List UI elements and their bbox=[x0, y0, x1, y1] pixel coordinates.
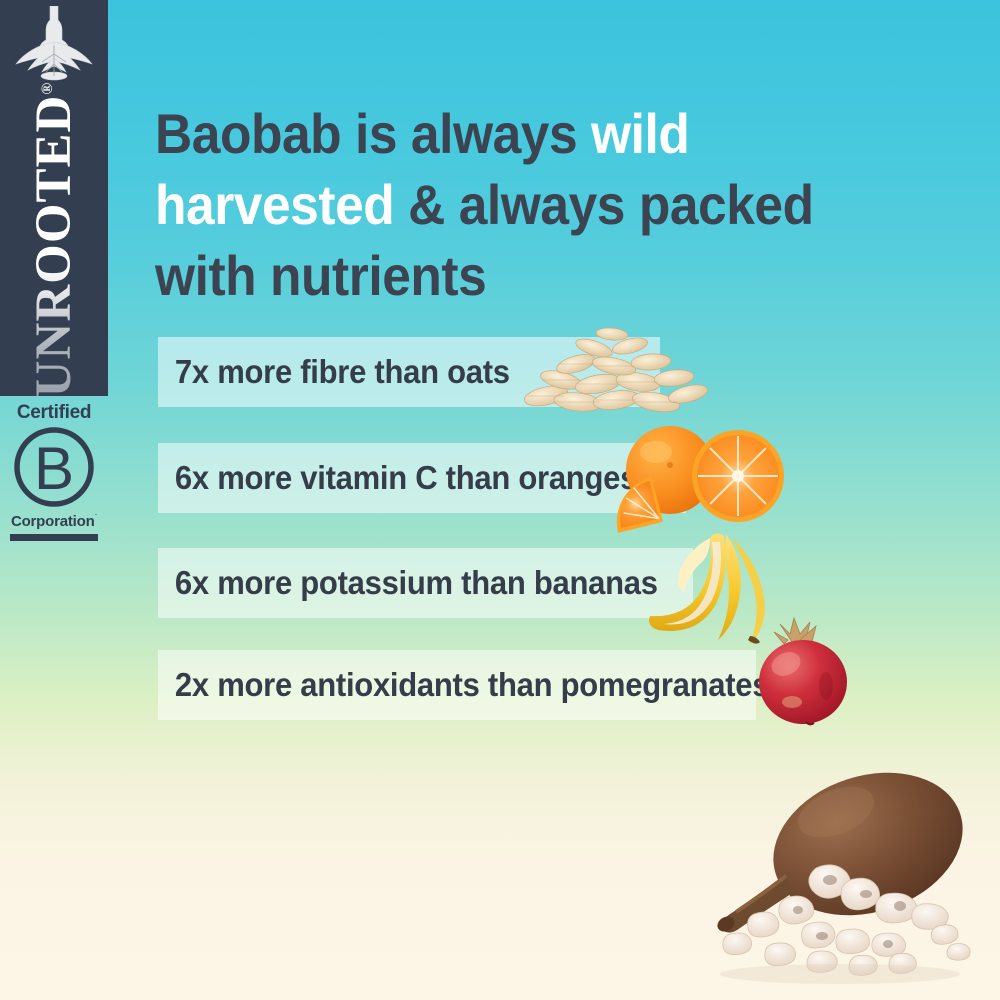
headline-line2-highlight: harvested bbox=[155, 173, 394, 236]
claim-text-fibre: 7x more fibre than oats bbox=[158, 353, 510, 391]
oats-image bbox=[506, 318, 716, 418]
svg-text:B: B bbox=[34, 435, 74, 502]
bcorp-underline-rule bbox=[10, 534, 98, 541]
bcorp-certified-label: Certified bbox=[0, 400, 108, 424]
claim-bar-antioxidants: 2x more antioxidants than pomegranates bbox=[158, 650, 756, 720]
page-title: Baobab is always wildharvested & always … bbox=[155, 98, 827, 311]
headline-line2-dark: & always packed bbox=[394, 173, 813, 236]
infographic-canvas: UNROOTED® Certified B Corporation˙ Baoba… bbox=[0, 0, 1000, 1000]
headline-line1-highlight: wild bbox=[591, 102, 689, 165]
claim-bar-potassium: 6x more potassium than bananas bbox=[158, 548, 693, 618]
brand-wordmark-trademark: ® bbox=[39, 83, 56, 95]
headline-line1-dark: Baobab is always bbox=[155, 102, 591, 165]
claim-text-potassium: 6x more potassium than bananas bbox=[158, 564, 658, 602]
bcorp-corporation-text: Corporation bbox=[11, 513, 95, 530]
pomegranate-image bbox=[748, 612, 858, 730]
bcorp-circle-mark: B bbox=[13, 426, 95, 508]
baobab-fruit-image bbox=[690, 748, 990, 993]
brand-wordmark-text: UNROOTED bbox=[26, 95, 82, 398]
headline-line3-dark: with nutrients bbox=[155, 244, 486, 307]
bcorp-trademark: ˙ bbox=[95, 513, 97, 522]
brand-wordmark: UNROOTED® bbox=[25, 83, 83, 398]
baobab-tree-icon bbox=[12, 6, 96, 84]
brand-panel: UNROOTED® bbox=[0, 0, 108, 396]
bcorp-corporation-label: Corporation˙ bbox=[11, 509, 97, 531]
claim-text-vitamin-c: 6x more vitamin C than oranges bbox=[158, 459, 637, 497]
claim-text-antioxidants: 2x more antioxidants than pomegranates bbox=[158, 666, 769, 704]
b-corporation-logo-icon: Certified B Corporation˙ bbox=[0, 400, 108, 548]
